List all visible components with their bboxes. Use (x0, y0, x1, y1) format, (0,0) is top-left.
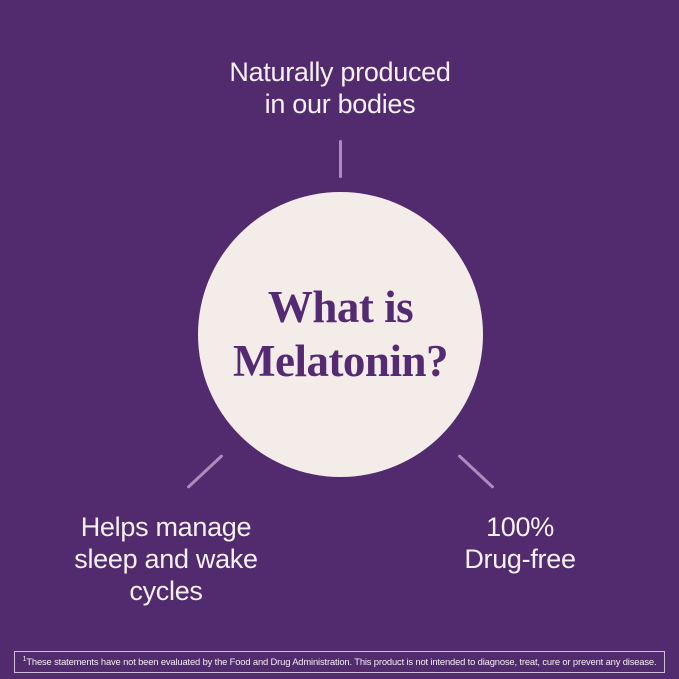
connector-bottom-left-line (186, 454, 223, 489)
disclaimer-body: These statements have not been evaluated… (26, 656, 656, 667)
page-title: What is Melatonin? (219, 281, 462, 387)
disclaimer-text: 1These statements have not been evaluate… (23, 657, 657, 666)
connector-bottom-right-line (457, 454, 494, 489)
disclaimer-box: 1These statements have not been evaluate… (14, 651, 665, 673)
callout-drug-free: 100% Drug-free (420, 511, 620, 575)
callout-naturally-produced: Naturally produced in our bodies (140, 56, 540, 120)
melatonin-infographic: Naturally produced in our bodies What is… (0, 0, 679, 679)
connector-top-line (339, 140, 342, 178)
center-circle: What is Melatonin? (198, 192, 483, 477)
callout-sleep-wake-cycles: Helps manage sleep and wake cycles (36, 511, 296, 607)
